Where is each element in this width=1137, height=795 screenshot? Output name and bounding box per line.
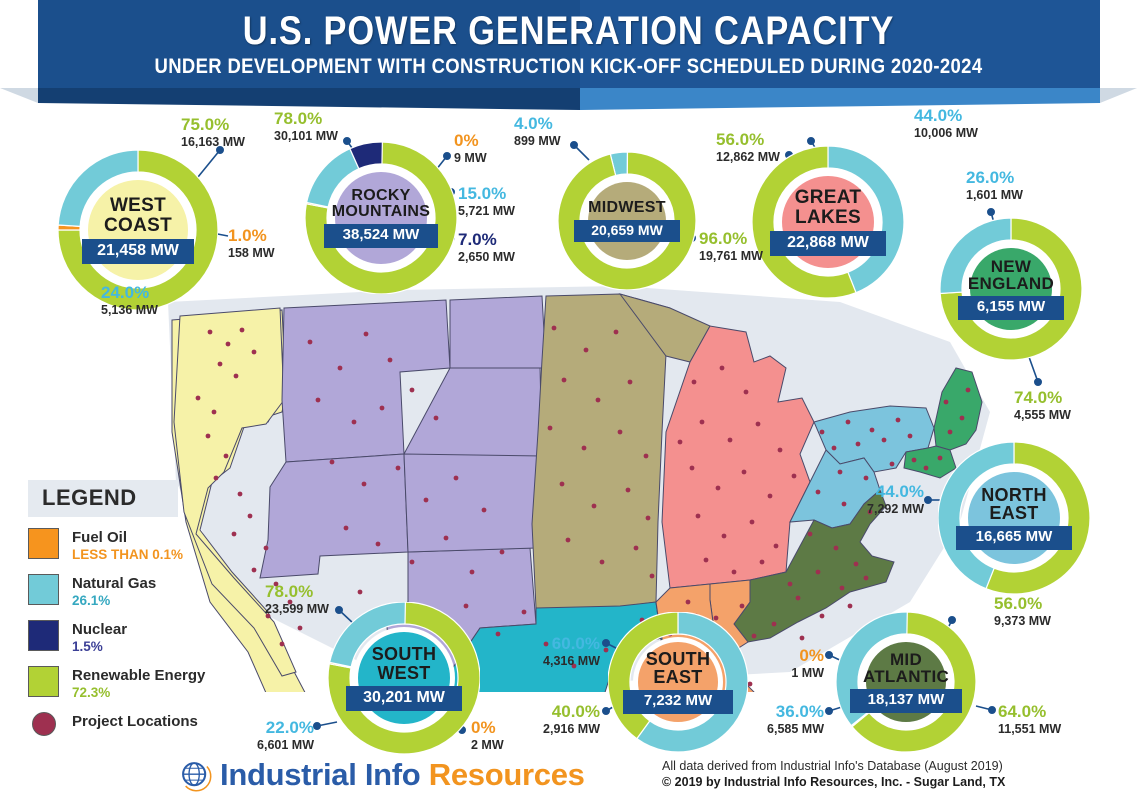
legend-item-text: Natural Gas26.1% bbox=[72, 574, 156, 609]
donut-midwest[interactable]: MIDWEST20,659 MW bbox=[558, 152, 696, 290]
legend-swatch-icon bbox=[28, 574, 59, 605]
credit-source: All data derived from Industrial Info's … bbox=[662, 758, 1005, 774]
legend-swatch-icon bbox=[28, 620, 59, 651]
callout-great-lakes-renewable: 56.0% 12,862 MW bbox=[716, 130, 780, 165]
donut-great-lakes[interactable]: GREATLAKES22,868 MW bbox=[752, 146, 904, 298]
donut-core bbox=[588, 182, 666, 260]
callout-midwest-gas: 4.0% 899 MW bbox=[514, 114, 561, 149]
donut-core bbox=[968, 472, 1060, 564]
footer-credit: All data derived from Industrial Info's … bbox=[662, 758, 1005, 790]
legend-item-value: 26.1% bbox=[72, 592, 156, 609]
donut-chart-north-east bbox=[938, 442, 1090, 594]
logo-text: Industrial Info Resources bbox=[220, 757, 585, 793]
donut-chart-rocky-mountains bbox=[305, 142, 457, 294]
donut-mid-atlantic[interactable]: MIDATLANTIC18,137 MW bbox=[836, 612, 976, 752]
callout-north-east-renewable: 56.0% 9,373 MW bbox=[994, 594, 1051, 629]
legend-item-nuclear[interactable]: Nuclear1.5% bbox=[28, 620, 268, 655]
legend-item-label: Nuclear bbox=[72, 621, 127, 638]
header-banner: U.S. POWER GENERATION CAPACITY UNDER DEV… bbox=[0, 0, 1137, 110]
legend-title: LEGEND bbox=[42, 485, 137, 510]
legend-item-value: LESS THAN 0.1% bbox=[72, 546, 183, 563]
callout-west-coast-gas: 24.0% 5,136 MW bbox=[101, 283, 158, 318]
legend-item-label: Natural Gas bbox=[72, 575, 156, 592]
company-logo: Industrial Info Resources bbox=[178, 757, 585, 793]
callout-new-england-gas: 26.0% 1,601 MW bbox=[966, 168, 1023, 203]
callout-rocky-fueloil: 0% 9 MW bbox=[454, 131, 487, 166]
callout-mid-atlantic-gas: 36.0% 6,585 MW bbox=[730, 702, 824, 737]
donut-core bbox=[782, 176, 874, 268]
logo-primary: Industrial Info bbox=[220, 757, 420, 792]
donut-core bbox=[866, 642, 946, 722]
callout-great-lakes-gas: 44.0% 10,006 MW bbox=[914, 106, 978, 141]
legend-item-label: Project Locations bbox=[72, 713, 198, 730]
donut-chart-great-lakes bbox=[752, 146, 904, 298]
callout-west-coast-renewable: 75.0% 16,163 MW bbox=[181, 115, 245, 150]
donut-north-east[interactable]: NORTHEAST16,665 MW bbox=[938, 442, 1090, 594]
logo-secondary: Resources bbox=[429, 757, 585, 792]
callout-south-west-renewable: 78.0% 23,599 MW bbox=[265, 582, 329, 617]
legend-item-label: Fuel Oil bbox=[72, 529, 183, 546]
legend-item-project-locations[interactable]: Project Locations bbox=[28, 712, 268, 736]
legend-item-fuel-oil[interactable]: Fuel OilLESS THAN 0.1% bbox=[28, 528, 268, 563]
legend-item-renewable-energy[interactable]: Renewable Energy72.3% bbox=[28, 666, 268, 701]
legend-title-bar: LEGEND bbox=[28, 480, 178, 517]
donut-core bbox=[638, 642, 718, 722]
legend-item-text: Project Locations bbox=[72, 712, 198, 730]
donut-rocky-mountains[interactable]: ROCKYMOUNTAINS38,524 MW bbox=[305, 142, 457, 294]
callout-north-east-gas: 44.0% 7,292 MW bbox=[828, 482, 924, 517]
callout-rocky-nuclear: 7.0% 2,650 MW bbox=[458, 230, 515, 265]
callout-mid-atlantic-renewable: 64.0% 11,551 MW bbox=[998, 702, 1061, 737]
donut-chart-new-england bbox=[940, 218, 1082, 360]
callout-west-coast-fueloil: 1.0% 158 MW bbox=[228, 226, 275, 261]
legend-item-text: Fuel OilLESS THAN 0.1% bbox=[72, 528, 183, 563]
donut-core bbox=[970, 248, 1052, 330]
credit-copyright: © 2019 by Industrial Info Resources, Inc… bbox=[662, 774, 1005, 790]
donut-chart-south-west bbox=[328, 602, 480, 754]
legend-item-value: 72.3% bbox=[72, 684, 205, 701]
donut-chart-mid-atlantic bbox=[836, 612, 976, 752]
legend-swatch-icon bbox=[28, 528, 59, 559]
callout-south-west-fueloil: 0% 2 MW bbox=[471, 718, 504, 753]
donut-core bbox=[358, 632, 450, 724]
donut-core bbox=[88, 180, 188, 280]
callout-south-east-gas: 60.0% 4,316 MW bbox=[508, 634, 600, 669]
donut-chart-midwest bbox=[558, 152, 696, 290]
donut-new-england[interactable]: NEWENGLAND6,155 MW bbox=[940, 218, 1082, 360]
project-location-dot-icon bbox=[32, 712, 56, 736]
callout-south-east-renewable: 40.0% 2,916 MW bbox=[508, 702, 600, 737]
callout-midwest-renewable: 96.0% 19,761 MW bbox=[699, 229, 763, 264]
legend-swatch-icon bbox=[28, 666, 59, 697]
donut-chart-south-east bbox=[608, 612, 748, 752]
legend-item-label: Renewable Energy bbox=[72, 667, 205, 684]
legend-item-text: Renewable Energy72.3% bbox=[72, 666, 205, 701]
banner-shape bbox=[0, 0, 1137, 110]
globe-icon bbox=[178, 758, 212, 792]
callout-mid-atlantic-fueloil: 0% 1 MW bbox=[760, 646, 824, 681]
callout-new-england-renewable: 74.0% 4,555 MW bbox=[1014, 388, 1071, 423]
legend-item-natural-gas[interactable]: Natural Gas26.1% bbox=[28, 574, 268, 609]
callout-rocky-gas: 15.0% 5,721 MW bbox=[458, 184, 515, 219]
callout-rocky-renewable: 78.0% 30,101 MW bbox=[274, 109, 338, 144]
donut-core bbox=[335, 172, 427, 264]
legend-item-value: 1.5% bbox=[72, 638, 127, 655]
donut-south-east[interactable]: SOUTHEAST7,232 MW bbox=[608, 612, 748, 752]
donut-south-west[interactable]: SOUTHWEST30,201 MW bbox=[328, 602, 480, 754]
legend-item-text: Nuclear1.5% bbox=[72, 620, 127, 655]
legend: LEGEND Fuel OilLESS THAN 0.1%Natural Gas… bbox=[28, 480, 268, 736]
